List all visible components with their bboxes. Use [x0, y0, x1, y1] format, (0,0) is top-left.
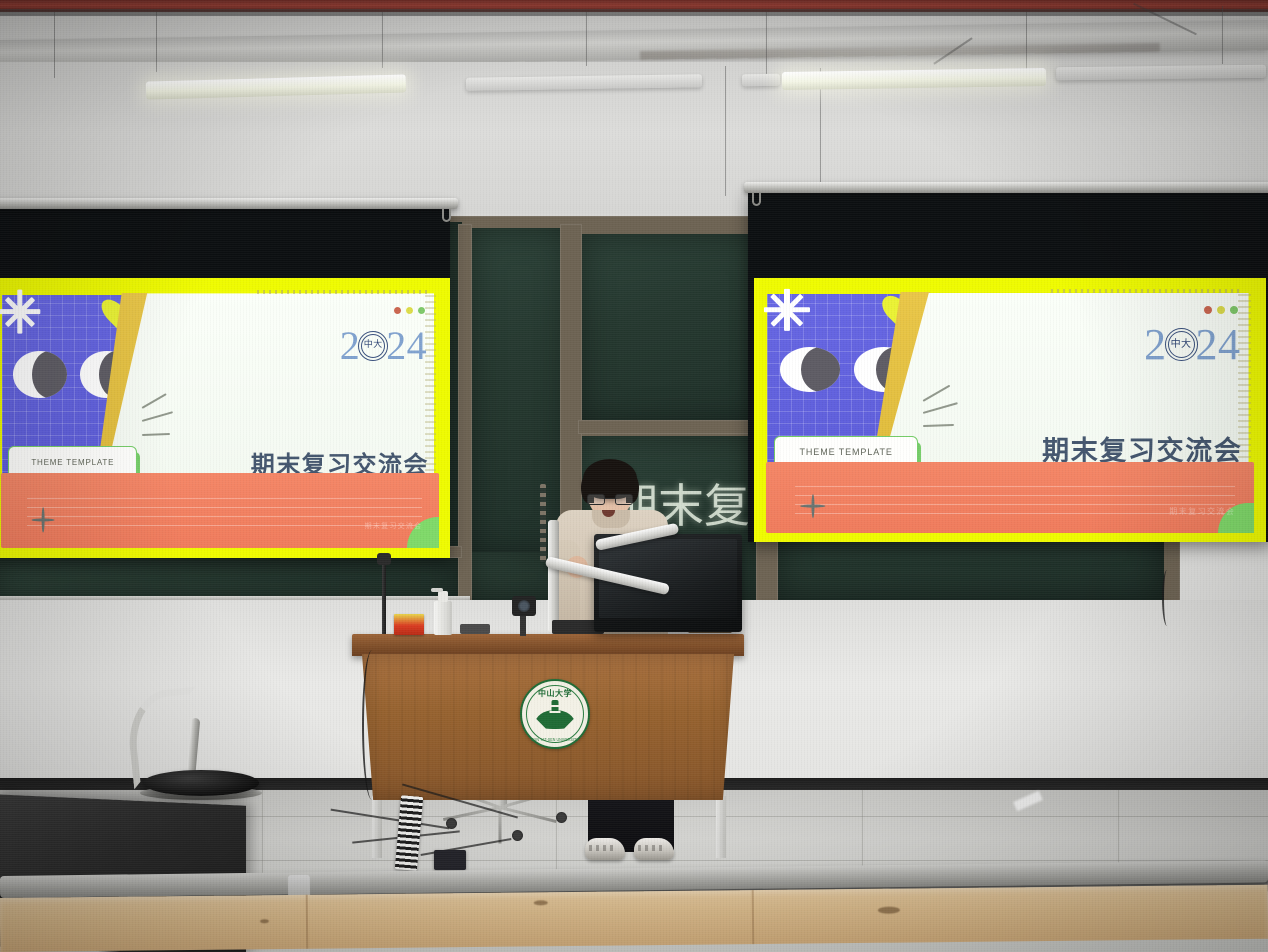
hanging-wire: [54, 12, 55, 78]
university-seal-icon: 中大: [358, 331, 388, 361]
glasses-icon: [587, 494, 633, 505]
hanging-wire: [1222, 6, 1223, 64]
sparkle-icon: [0, 289, 41, 334]
ceiling-light-tube: [1056, 65, 1266, 81]
hand-sanitizer-bottle[interactable]: [434, 601, 452, 635]
podium-leg-right: [716, 796, 726, 858]
slide-year-right: 24: [386, 326, 427, 366]
seal-text: 中大: [364, 341, 383, 350]
four-point-star-icon: [800, 495, 826, 519]
theme-template-label: THEME TEMPLATE: [800, 447, 893, 457]
slide-footer: 期末复习交流会: [1169, 506, 1235, 517]
hanging-wire: [766, 12, 767, 74]
slide-year-right: 24: [1196, 323, 1241, 367]
monitor-pole[interactable]: [548, 520, 559, 632]
slide-year-left: 2: [1144, 323, 1166, 367]
four-point-star-icon: [31, 508, 54, 533]
emblem-english-name: SUN YAT-SEN UNIVERSITY: [528, 737, 582, 742]
classroom-photo: 期末复 4 THEME TEMPLATE: [0, 0, 1268, 952]
chalkboard-panel-mid-left: [470, 228, 570, 556]
emblem-tower-graphic: [535, 697, 575, 731]
university-seal-icon: 中大: [1165, 328, 1198, 361]
slide-dot-row: [257, 290, 427, 294]
hanging-wire: [382, 12, 383, 68]
microphone-stand[interactable]: [382, 560, 386, 634]
projection-screen-left: THEME TEMPLATE 2 中大 24 期末复习交流会 期末复习交流会: [0, 206, 450, 558]
chair-base[interactable]: [442, 804, 566, 844]
tissue-box[interactable]: [394, 614, 424, 635]
slide-orange-band: [1, 473, 440, 549]
power-strip[interactable]: [434, 850, 466, 870]
screen-pull-hook-right[interactable]: [752, 193, 761, 206]
camera-icon[interactable]: [512, 596, 536, 616]
hanging-wire: [725, 66, 726, 196]
slide-left: THEME TEMPLATE 2 中大 24 期末复习交流会 期末复习交流会: [0, 278, 450, 558]
slide-year: 2 中大 24: [1144, 323, 1240, 367]
chair-wheel: [556, 812, 567, 823]
presenter-shoe-left: [585, 838, 625, 860]
slide-right: THEME TEMPLATE 2 中大 24 期末复习交流会 期末复习交流会: [754, 278, 1266, 542]
ceiling-beam-shadow: [0, 9, 1268, 16]
slide-year-left: 2: [340, 326, 360, 366]
projector-screen-housing-left[interactable]: [0, 198, 458, 209]
university-emblem: 中山大学 SUN YAT-SEN UNIVERSITY: [520, 679, 590, 749]
speed-lines-icon: [142, 404, 174, 443]
hanging-wire: [586, 12, 587, 66]
speed-lines-icon: [923, 397, 959, 434]
microphone-head[interactable]: [377, 553, 391, 565]
slide-year: 2 中大 24: [340, 326, 427, 366]
hanging-wire: [156, 12, 157, 72]
screen-pull-hook-left[interactable]: [442, 209, 451, 222]
slide-footer: 期末复习交流会: [365, 521, 423, 531]
presenter-hair: [583, 459, 637, 499]
slide-dot-row: [1051, 289, 1240, 293]
chalkboard-crossbar: [578, 420, 768, 434]
desk-device[interactable]: [460, 624, 490, 634]
presenter-shoe-right: [634, 838, 674, 860]
traffic-dots: [394, 307, 425, 314]
podium-top: [352, 634, 744, 656]
chair-wheel: [512, 830, 523, 841]
wall-cable: [1162, 570, 1172, 626]
seal-text: 中大: [1171, 340, 1192, 350]
chalkboard-track-teeth: [540, 484, 546, 562]
projection-screen-right: THEME TEMPLATE 2 中大 24 期末复习交流会 期末复习交流会: [748, 190, 1268, 542]
power-cable: [362, 650, 382, 800]
chalkboard-panel-mid-top: [580, 234, 766, 424]
theme-template-label: THEME TEMPLATE: [31, 458, 114, 467]
projector-screen-housing-right[interactable]: [744, 182, 1268, 193]
slide-orange-band: [766, 462, 1254, 533]
podium-leg-left: [372, 796, 382, 858]
ceiling-light-tube: [742, 74, 780, 87]
traffic-dots: [1204, 306, 1238, 314]
sparkle-icon: [764, 289, 810, 331]
